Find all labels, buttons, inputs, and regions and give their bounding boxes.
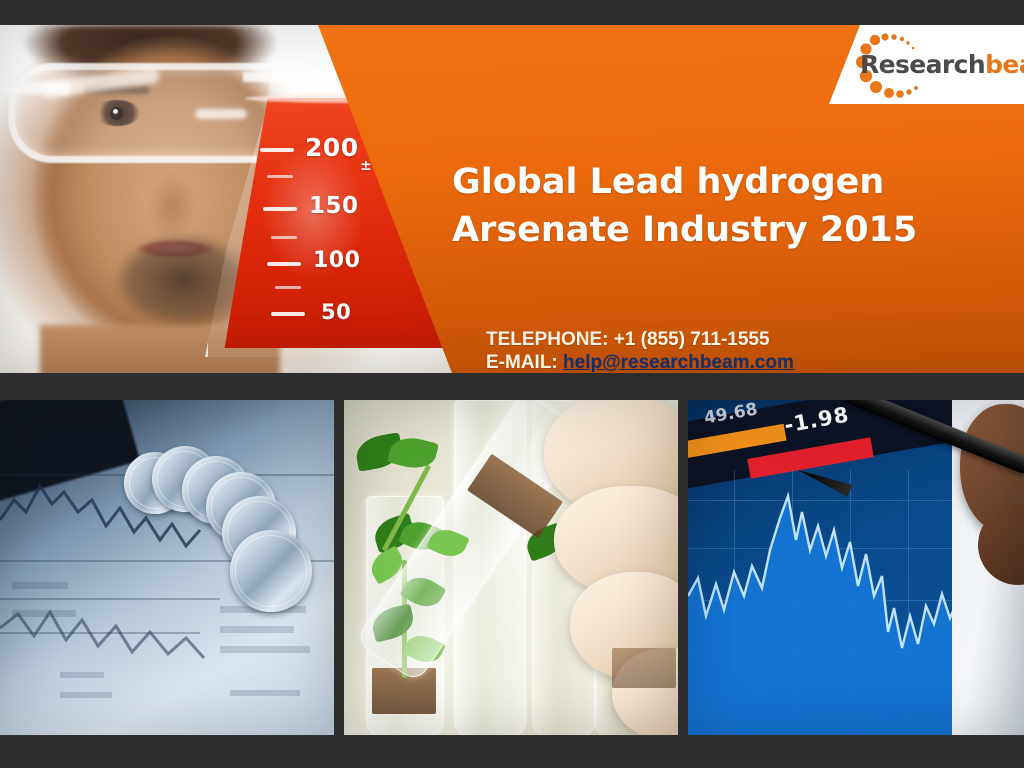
coins-on-financial-newspaper-photo xyxy=(0,400,334,735)
flask-graduation-100: 100 xyxy=(313,248,360,273)
stock-chart-screen-photo: 49.68 -1.98 xyxy=(688,400,1024,735)
logo-word-beam: beam xyxy=(985,50,1024,79)
telephone-label: TELEPHONE: xyxy=(486,329,608,350)
email-row: E-MAIL: help@researchbeam.com xyxy=(486,351,794,373)
email-link[interactable]: help@researchbeam.com xyxy=(563,352,794,373)
telephone-value: +1 (855) 711-1555 xyxy=(614,329,770,350)
page-title: Global Lead hydrogen Arsenate Industry 2… xyxy=(452,158,922,254)
logo-word-research: Research xyxy=(860,50,985,79)
telephone-row: TELEPHONE: +1 (855) 711-1555 xyxy=(486,328,794,351)
coin-6 xyxy=(230,530,312,612)
flask-graduation-150: 150 xyxy=(309,193,359,219)
flask-graduation-50: 50 xyxy=(321,300,351,324)
test-tubes-with-seedlings-photo xyxy=(344,400,678,735)
flask-graduation-200: 200 xyxy=(305,133,359,162)
image-gallery-strip: 49.68 -1.98 xyxy=(0,400,1024,735)
hero-section: 200 ml ± 5% 150 100 50 xyxy=(0,25,1024,373)
title-line-1: Global Lead hydrogen xyxy=(452,158,922,206)
flask-tick-minor-2 xyxy=(271,236,297,239)
email-label: E-MAIL: xyxy=(486,352,558,373)
title-line-2: Arsenate Industry 2015 xyxy=(452,206,922,254)
contact-block: TELEPHONE: +1 (855) 711-1555 E-MAIL: hel… xyxy=(486,328,794,373)
agar-medium-3 xyxy=(612,648,676,688)
stock-area-chart xyxy=(688,400,978,735)
flask-tick-150 xyxy=(263,207,297,211)
presentation-slide: 200 ml ± 5% 150 100 50 xyxy=(0,0,1024,768)
logo-wordmark: Researchbeam xyxy=(860,50,1024,79)
flask-tick-50 xyxy=(271,312,305,316)
flask-tick-minor-3 xyxy=(275,286,301,289)
flask-tick-200 xyxy=(260,148,294,152)
researchbeam-logo[interactable]: Researchbeam xyxy=(845,25,1024,104)
flask-tick-100 xyxy=(267,262,301,266)
flask-tick-minor-1 xyxy=(267,175,293,178)
